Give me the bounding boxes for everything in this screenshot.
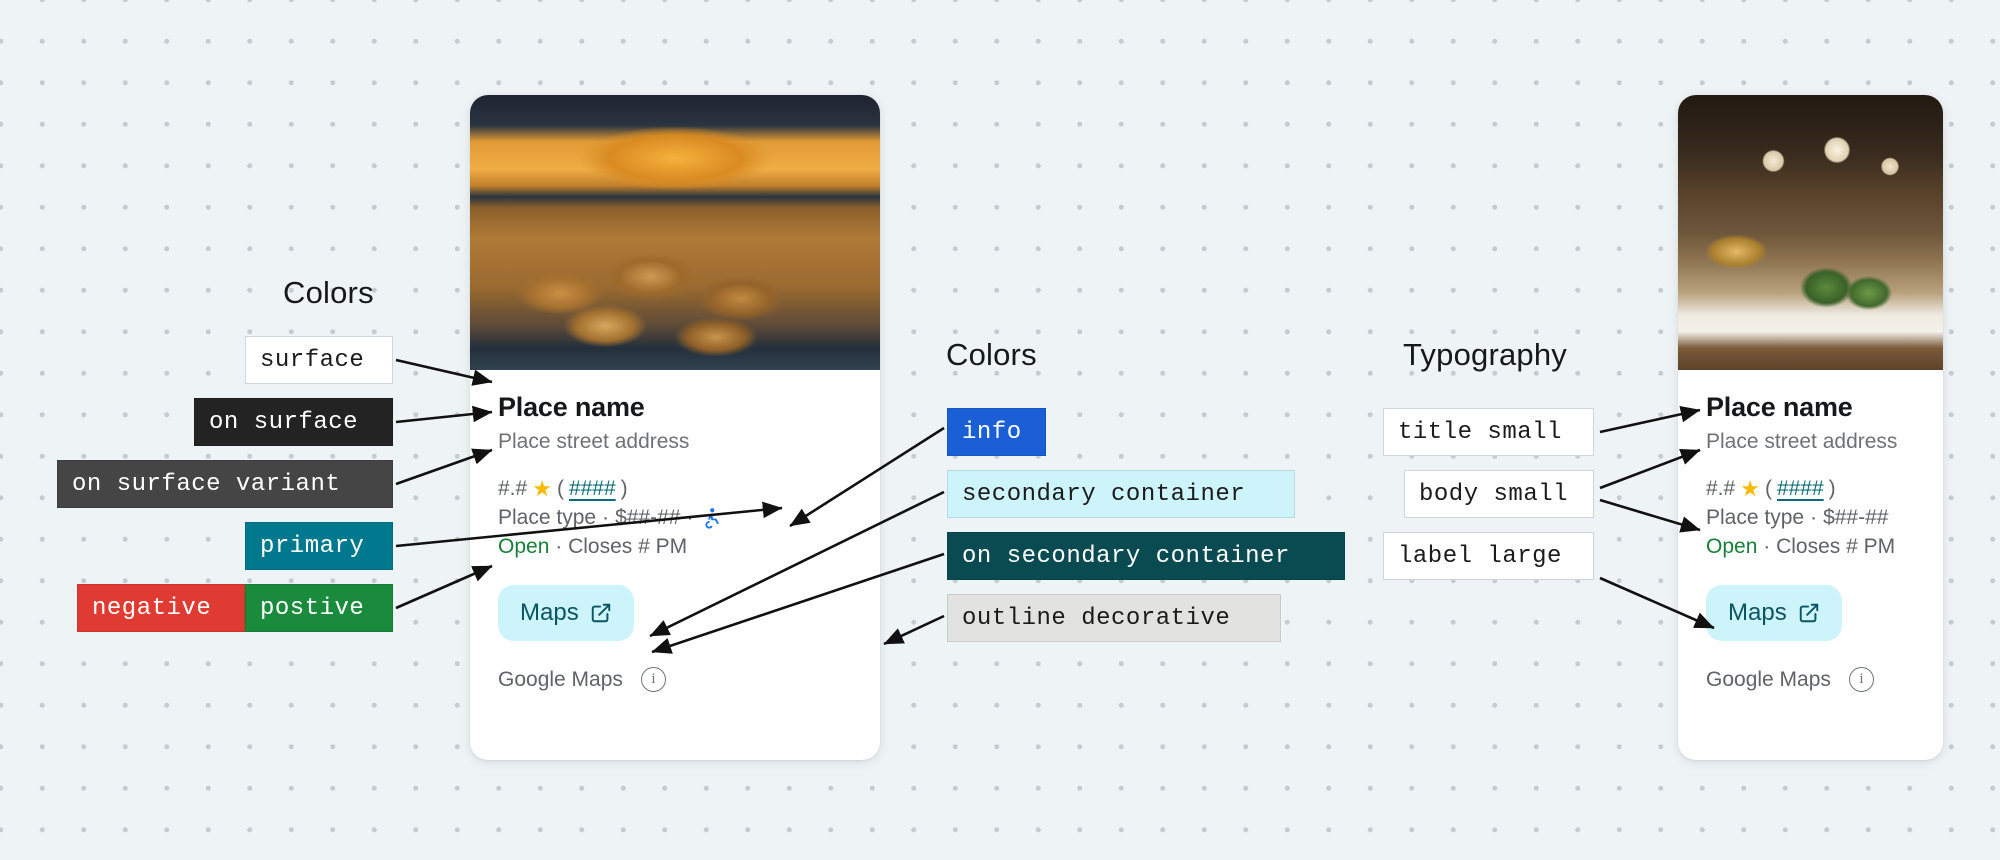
closing-time: Closes # PM (568, 535, 687, 558)
color-chip-label: outline decorative (962, 605, 1230, 632)
review-count-close-paren: ) (621, 477, 628, 501)
place-name: Place name (1706, 392, 1915, 424)
review-count-open-paren: ( (557, 477, 564, 501)
rating-value: #.# (1706, 477, 1735, 501)
place-name: Place name (498, 392, 852, 424)
place-photo-cafe (1678, 95, 1943, 370)
place-card-footer: Google Maps i (1678, 667, 1943, 714)
review-count-link[interactable]: #### (1777, 477, 1824, 501)
place-street-address: Place street address (1706, 429, 1915, 455)
open-status: Open (1706, 535, 1757, 558)
color-chip-outline-decorative[interactable]: outline decorative (947, 594, 1281, 642)
typography-chip-label-large[interactable]: label large (1383, 532, 1594, 580)
typography-chip-label: title small (1398, 419, 1562, 446)
google-maps-attribution: Google Maps (498, 668, 623, 692)
color-chip-label: negative (92, 595, 211, 622)
color-chip-surface[interactable]: surface (245, 336, 393, 384)
color-chip-label: primary (260, 533, 364, 560)
color-chip-negative[interactable]: negative (77, 584, 245, 632)
place-photo-bakery (470, 95, 880, 370)
review-count-open-paren: ( (1765, 477, 1772, 501)
color-chip-label: on surface variant (72, 471, 340, 498)
maps-button-label: Maps (1728, 599, 1787, 627)
color-chip-label: postive (260, 595, 364, 622)
section-heading-colors-left: Colors (283, 275, 374, 311)
design-annotation-canvas: Colors Colors Typography surface on surf… (0, 0, 2000, 860)
wheelchair-accessible-icon (699, 507, 721, 529)
place-card-body: Place name Place street address #.# ★ (#… (1678, 370, 1943, 641)
open-status: Open (498, 535, 549, 558)
typography-chip-body-small[interactable]: body small (1404, 470, 1594, 518)
color-chip-label: on surface (209, 409, 358, 436)
external-link-icon (1798, 602, 1820, 624)
place-card-bakery[interactable]: Place name Place street address #.# ★ (#… (470, 95, 880, 760)
hours-separator: · (555, 535, 562, 558)
review-count-close-paren: ) (1829, 477, 1836, 501)
color-chip-label: info (962, 419, 1022, 446)
color-chip-info[interactable]: info (947, 408, 1046, 456)
place-card-cafe[interactable]: Place name Place street address #.# ★ (#… (1678, 95, 1943, 760)
star-icon: ★ (532, 478, 552, 500)
color-chip-on-surface[interactable]: on surface (194, 398, 393, 446)
color-chip-on-surface-variant[interactable]: on surface variant (57, 460, 393, 508)
section-heading-typography: Typography (1403, 337, 1567, 373)
place-card-body: Place name Place street address #.# ★ (#… (470, 370, 880, 641)
place-type: Place type (1706, 506, 1804, 530)
place-hours-row: Open · Closes # PM (1706, 535, 1915, 559)
cafe-interior-image (1678, 95, 1943, 370)
price-range: $##-## (615, 506, 680, 530)
typography-chip-label: label large (1398, 543, 1562, 570)
maps-button[interactable]: Maps (1706, 585, 1842, 641)
meta-separator-1: · (1810, 506, 1817, 530)
place-meta-row: Place type · $##-## (1706, 506, 1915, 530)
review-count-link[interactable]: #### (569, 477, 616, 501)
meta-separator-2: · (686, 506, 693, 530)
place-card-footer: Google Maps i (470, 667, 880, 714)
typography-chip-title-small[interactable]: title small (1383, 408, 1594, 456)
color-chip-postive[interactable]: postive (245, 584, 393, 632)
closing-time: Closes # PM (1776, 535, 1895, 558)
color-chip-on-secondary-container[interactable]: on secondary container (947, 532, 1345, 580)
color-chip-label: on secondary container (962, 543, 1290, 570)
external-link-icon (590, 602, 612, 624)
section-heading-colors-mid: Colors (946, 337, 1037, 373)
star-icon: ★ (1740, 478, 1760, 500)
google-maps-attribution: Google Maps (1706, 668, 1831, 692)
hours-separator: · (1763, 535, 1770, 558)
info-icon[interactable]: i (1849, 667, 1874, 692)
arrow-outline-decorative (884, 616, 944, 644)
bakery-storefront-image (470, 95, 880, 370)
place-street-address: Place street address (498, 429, 852, 455)
maps-button-label: Maps (520, 599, 579, 627)
color-chip-label: secondary container (962, 481, 1245, 508)
typography-chip-label: body small (1419, 481, 1568, 508)
place-meta-row: Place type · $##-## · (498, 506, 852, 530)
place-hours-row: Open · Closes # PM (498, 535, 852, 559)
place-rating-row: #.# ★ (####) (498, 477, 852, 501)
info-icon[interactable]: i (641, 667, 666, 692)
color-chip-primary[interactable]: primary (245, 522, 393, 570)
color-chip-secondary-container[interactable]: secondary container (947, 470, 1295, 518)
color-chip-label: surface (260, 347, 364, 374)
meta-separator-1: · (602, 506, 609, 530)
maps-button[interactable]: Maps (498, 585, 634, 641)
place-type: Place type (498, 506, 596, 530)
place-rating-row: #.# ★ (####) (1706, 477, 1915, 501)
rating-value: #.# (498, 477, 527, 501)
price-range: $##-## (1823, 506, 1888, 530)
